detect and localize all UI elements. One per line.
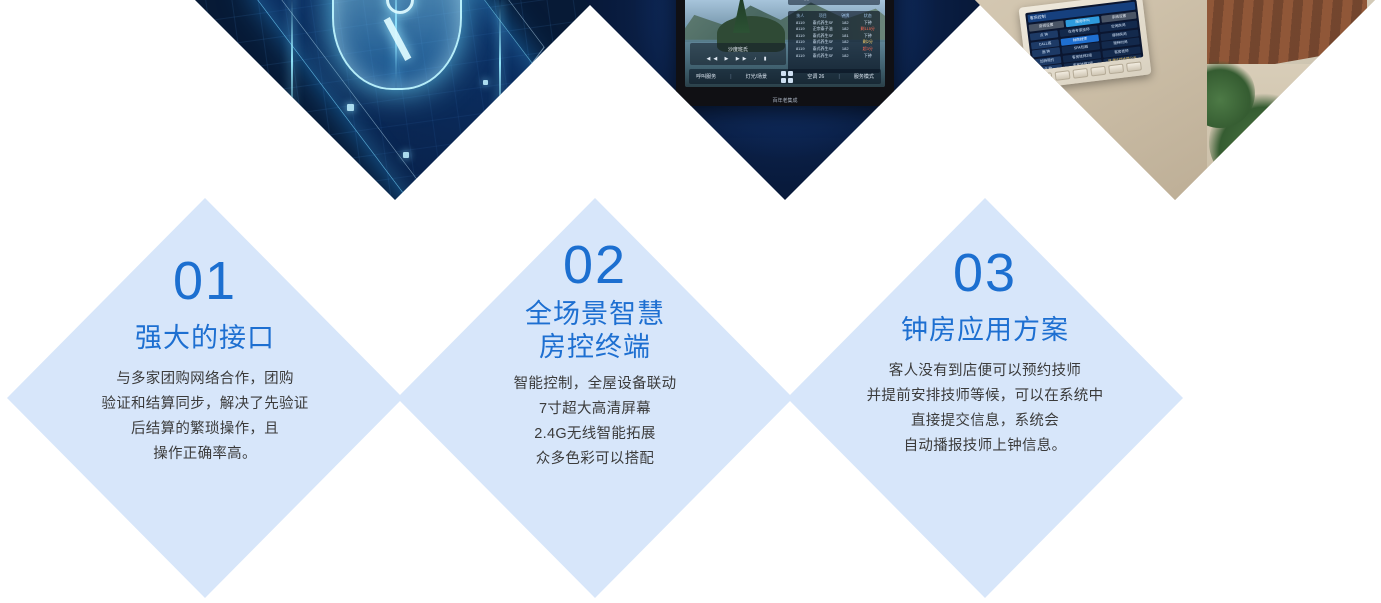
table-cell: 泰式养生SPA [813, 46, 834, 53]
light-beam-icon [291, 0, 293, 142]
table-cell: 泰式养生SPA [813, 33, 834, 40]
glow-dot [347, 104, 354, 111]
tablet-screen[interactable]: 22:35 SPA6房 26℃ 11/24 技人 项目 钟牌 状态 [685, 0, 885, 87]
table-cell: 剩2分 [858, 39, 879, 46]
divider: | [838, 74, 839, 80]
table-row: 8119正宗泰子油束缚护理182剩115分 [790, 26, 878, 33]
card-body: 智能控制，全屋设备联动 7寸超大高清屏幕 2.4G无线智能拓展 众多色彩可以搭配 [514, 372, 677, 472]
card-number: 01 [173, 254, 237, 308]
media-controls-icons[interactable]: ◀◀ ▶ ▶▶ ♪ ▮ [690, 56, 786, 62]
card-number: 02 [563, 238, 627, 292]
table-row: 8119泰式养生SPA181下钟 [790, 33, 878, 40]
panel-side-buttons[interactable]: 点 钟CALL摇面 钟加钟预约点 钟 [1030, 30, 1063, 70]
panel-button[interactable] [1090, 66, 1106, 77]
temperature-label: 26℃ [831, 0, 842, 3]
panel-button[interactable] [1072, 68, 1088, 79]
table-cell: 8119 [790, 53, 811, 60]
panel-screen[interactable]: 客房控制 房间设置 服务呼叫 系统设置 点 钟CALL摇面 钟加钟预约点 钟 在… [1025, 0, 1143, 71]
panel-side-button[interactable]: 点 钟 [1034, 64, 1063, 71]
col-header: 项目 [813, 13, 834, 20]
table-cell: 下钟 [858, 33, 879, 40]
bar-item-aircon[interactable]: 空调 26 [807, 73, 824, 80]
wall-control-panel[interactable]: 客房控制 房间设置 服务呼叫 系统设置 点 钟CALL摇面 钟加钟预约点 钟 在… [1018, 0, 1151, 89]
table-cell: 8119 [790, 26, 811, 33]
service-status-table: 技人 项目 钟牌 状态 8119泰式养生SPA182下钟8119正宗泰子油束缚护… [788, 11, 880, 73]
date-label: 11/24 [864, 0, 876, 3]
feature-card-3[interactable]: 03 钟房应用方案 客人没有到店便可以预约技师 并提前安排技师等候，可以在系统中… [787, 198, 1183, 598]
table-cell: 泰式养生SPA [813, 20, 834, 27]
table-cell: 182 [835, 46, 856, 53]
bar-item-call-service[interactable]: 呼叫服务 [696, 73, 716, 80]
media-title: 沙度班氏 [690, 46, 786, 53]
card-title: 全场景智慧 房控终端 [525, 298, 665, 364]
panel-button[interactable] [1054, 70, 1070, 81]
table-cell: 正宗泰子油束缚护理 [813, 26, 834, 33]
table-row: 8119泰式养生SPA182超3分 [790, 46, 878, 53]
room-label: SPA6房 [792, 0, 809, 3]
light-beam-icon [499, 0, 501, 140]
feature-card-1[interactable]: 01 强大的接口 与多家团购网络合作，团购 验证和结算同步，解决了先验证 后结算… [7, 198, 403, 598]
table-row: 8119泰式养生SPA182剩2分 [790, 39, 878, 46]
feature-card-2[interactable]: 02 全场景智慧 房控终端 智能控制，全屋设备联动 7寸超大高清屏幕 2.4G无… [397, 198, 793, 598]
table-cell: 8119 [790, 39, 811, 46]
tablet-bottom-bar[interactable]: 呼叫服务 | 灯光/场景 空调 26 | 服务模式 [689, 69, 881, 84]
table-cell: 182 [835, 20, 856, 27]
tablet-device: CSUZBO 22:35 SPA6房 26℃ 11/24 [676, 0, 894, 106]
bar-item-lighting[interactable]: 灯光/场景 [746, 73, 767, 80]
table-cell: 泰式养生SPA [813, 53, 834, 60]
apps-grid-icon[interactable] [781, 71, 793, 83]
bar-item-service-mode[interactable]: 服务模式 [854, 73, 874, 80]
table-cell: 182 [835, 39, 856, 46]
card-title: 钟房应用方案 [901, 314, 1069, 347]
table-row: 8119泰式养生SPA182下钟 [790, 20, 878, 27]
table-cell: 超3分 [858, 46, 879, 53]
card-title: 强大的接口 [135, 322, 275, 355]
glow-dot [403, 152, 409, 158]
card-2-image-diamond: CSUZBO 22:35 SPA6房 26℃ 11/24 [585, 0, 985, 200]
divider: | [730, 74, 731, 80]
col-header: 钟牌 [835, 13, 856, 20]
card-3-image-diamond: 客房控制 房间设置 服务呼叫 系统设置 点 钟CALL摇面 钟加钟预约点 钟 在… [975, 0, 1375, 200]
card-body: 客人没有到店便可以预约技师 并提前安排技师等候，可以在系统中 直接提交信息，系统… [867, 359, 1104, 459]
col-header: 状态 [858, 13, 879, 20]
table-cell: 泰式养生SPA [813, 39, 834, 46]
card-number: 03 [953, 246, 1017, 300]
card-body: 与多家团购网络合作，团购 验证和结算同步，解决了先验证 后结算的繁琐操作，且 操… [101, 367, 308, 467]
table-cell: 下钟 [858, 20, 879, 27]
table-cell: 182 [835, 26, 856, 33]
cyber-shield-circuit-photo [195, 0, 595, 200]
col-header: 技人 [790, 13, 811, 20]
table-cell: 下钟 [858, 53, 879, 60]
glow-dot [483, 80, 488, 85]
table-cell: 8119 [790, 33, 811, 40]
panel-button[interactable] [1036, 72, 1052, 83]
wall-mounted-panel-corridor-photo: 客房控制 房间设置 服务呼叫 系统设置 点 钟CALL摇面 钟加钟预约点 钟 在… [975, 0, 1375, 200]
table-cell: 8119 [790, 20, 811, 27]
panel-button[interactable] [1108, 64, 1124, 75]
table-header-row: 技人 项目 钟牌 状态 [790, 13, 878, 20]
tablet-footer-logo: 百年老集成 [676, 97, 894, 104]
smart-room-control-tablet-photo: CSUZBO 22:35 SPA6房 26℃ 11/24 [585, 0, 985, 200]
table-row: 8119泰式养生SPA182下钟 [790, 53, 878, 60]
feature-diamond-grid: CSUZBO 22:35 SPA6房 26℃ 11/24 [0, 0, 1381, 603]
media-widget[interactable]: 沙度班氏 ◀◀ ▶ ▶▶ ♪ ▮ [690, 43, 786, 65]
panel-button[interactable] [1126, 61, 1142, 72]
clock-widget: 22:35 SPA6房 26℃ 11/24 [788, 0, 880, 5]
table-cell: 182 [835, 53, 856, 60]
table-cell: 剩115分 [858, 26, 879, 33]
table-cell: 181 [835, 33, 856, 40]
card-1-image-diamond [195, 0, 595, 200]
table-cell: 8119 [790, 46, 811, 53]
